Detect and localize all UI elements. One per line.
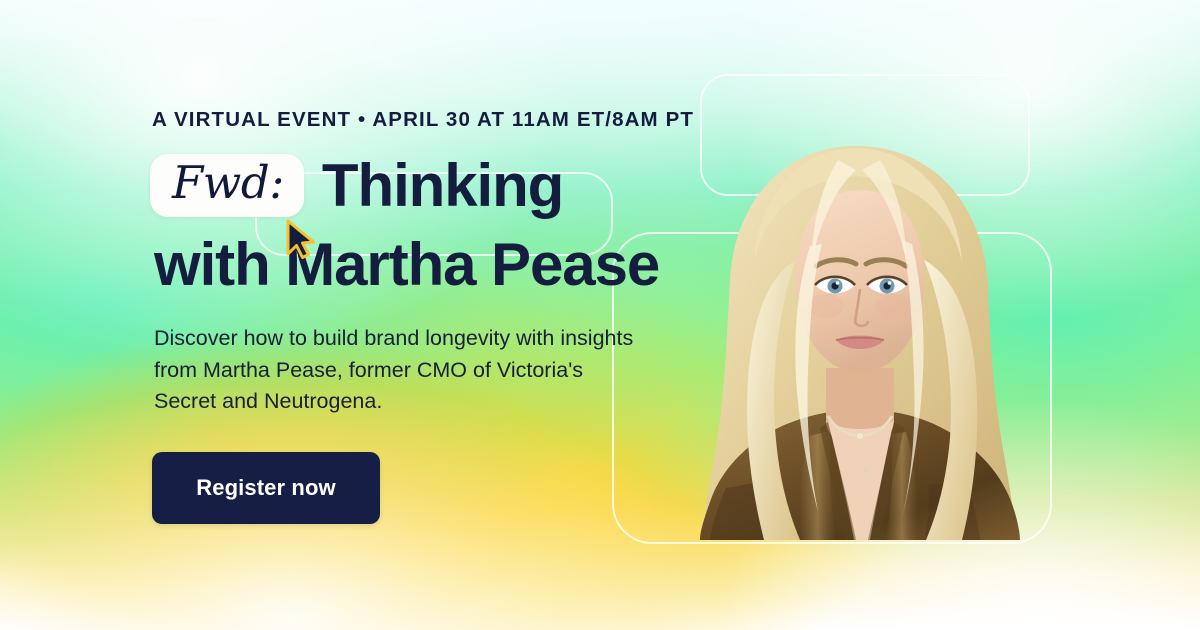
fwd-logo-text: Fwd: [172,159,284,206]
fwd-logo-badge: Fwd: [150,154,304,217]
register-now-button[interactable]: Register now [152,452,380,524]
headline-line-one: Fwd: Thinking [152,154,732,217]
content-column: A VIRTUAL EVENT • APRIL 30 AT 11AM ET/8A… [152,108,732,524]
headline-block: Fwd: Thinking with Martha Pease [152,154,732,295]
event-promo-banner: A VIRTUAL EVENT • APRIL 30 AT 11AM ET/8A… [0,0,1200,630]
headline-word-thinking: Thinking [322,156,563,216]
event-eyebrow: A VIRTUAL EVENT • APRIL 30 AT 11AM ET/8A… [152,108,732,132]
arrow-pointer-icon [284,218,318,260]
event-description: Discover how to build brand longevity wi… [154,323,634,418]
headline-line-two: with Martha Pease [154,235,732,295]
